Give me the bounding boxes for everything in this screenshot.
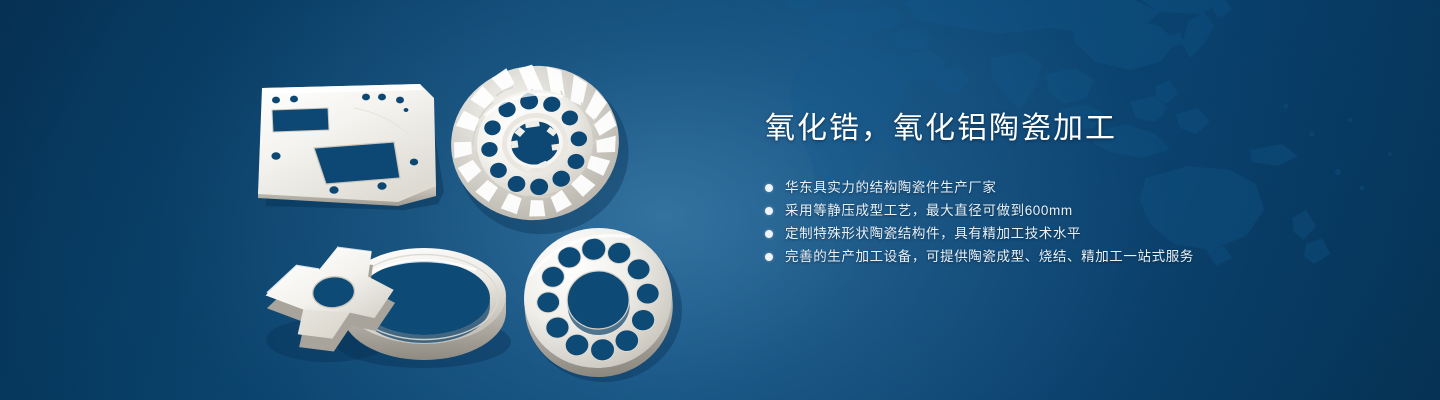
list-item: 华东具实力的结构陶瓷件生产厂家 — [765, 176, 1385, 199]
ceramic-perforated-disc-image — [508, 218, 693, 383]
feature-text: 完善的生产加工设备，可提供陶瓷成型、烧结、精加工一站式服务 — [785, 245, 1194, 268]
feature-text: 定制特殊形状陶瓷结构件，具有精加工技术水平 — [785, 222, 1081, 245]
feature-list: 华东具实力的结构陶瓷件生产厂家 采用等静压成型工艺，最大直径可做到600mm 定… — [765, 176, 1385, 268]
page-title: 氧化锆，氧化铝陶瓷加工 — [765, 108, 1385, 150]
product-photo-group — [0, 0, 720, 400]
banner-text-panel: 氧化锆，氧化铝陶瓷加工 华东具实力的结构陶瓷件生产厂家 采用等静压成型工艺，最大… — [765, 108, 1385, 268]
ceramic-cross-and-ring-image — [248, 222, 528, 377]
bullet-dot-icon — [765, 253, 773, 261]
ceramic-impeller-image — [443, 48, 628, 233]
list-item: 定制特殊形状陶瓷结构件，具有精加工技术水平 — [765, 222, 1385, 245]
hero-banner: 氧化锆，氧化铝陶瓷加工 华东具实力的结构陶瓷件生产厂家 采用等静压成型工艺，最大… — [0, 0, 1440, 400]
feature-text: 采用等静压成型工艺，最大直径可做到600mm — [785, 199, 1073, 222]
list-item: 采用等静压成型工艺，最大直径可做到600mm — [765, 199, 1385, 222]
ceramic-plate-image — [248, 78, 448, 213]
list-item: 完善的生产加工设备，可提供陶瓷成型、烧结、精加工一站式服务 — [765, 245, 1385, 268]
feature-text: 华东具实力的结构陶瓷件生产厂家 — [785, 176, 997, 199]
bullet-dot-icon — [765, 230, 773, 238]
bullet-dot-icon — [765, 207, 773, 215]
bullet-dot-icon — [765, 184, 773, 192]
